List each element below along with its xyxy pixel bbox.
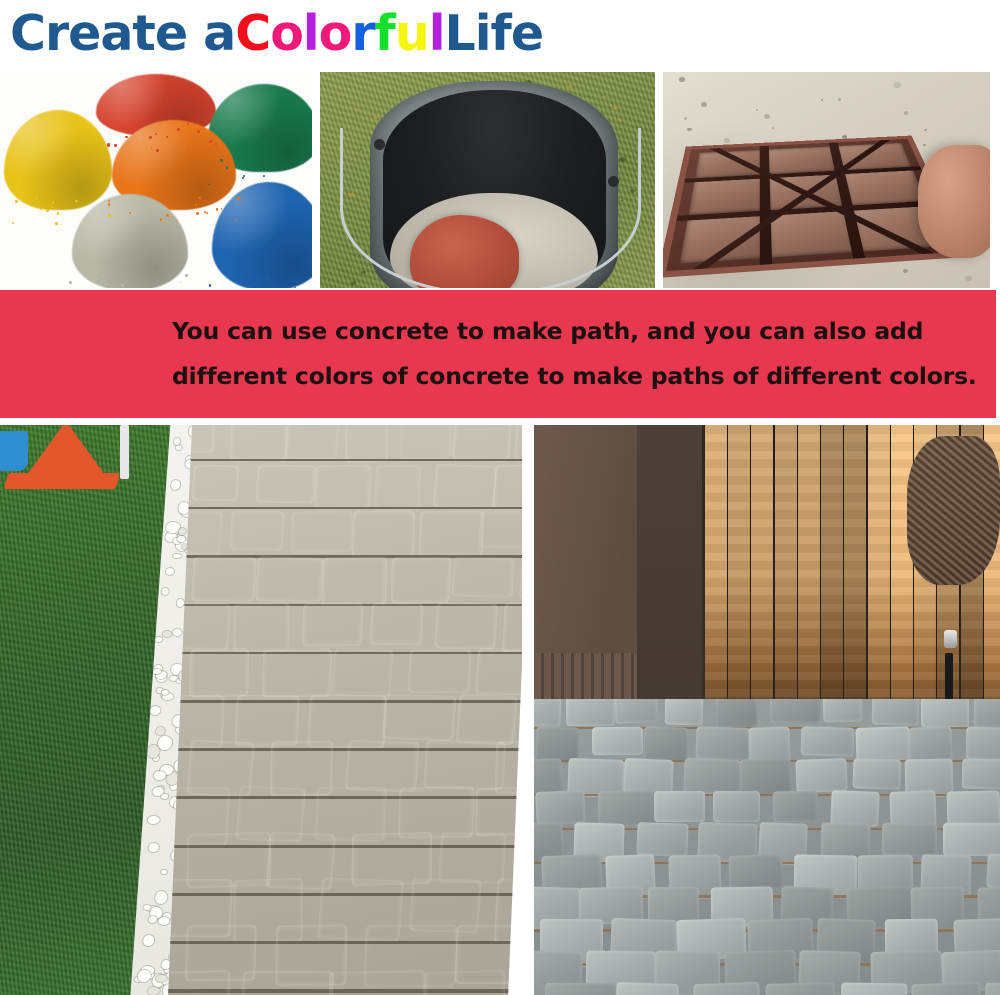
paver-stone	[375, 465, 422, 511]
paver-stone	[495, 741, 522, 794]
paver-stone	[345, 425, 389, 463]
headline-letter-r: r	[351, 9, 374, 58]
paver-stone	[795, 758, 847, 793]
headline-letter-f: f	[375, 9, 395, 58]
pigment-grain	[195, 204, 197, 206]
paver-stone	[451, 425, 511, 462]
paver-stone	[830, 790, 879, 827]
paver-stone	[749, 726, 791, 762]
paver-stone	[518, 832, 522, 894]
gravel-stone	[161, 870, 168, 875]
paver-stone	[623, 758, 673, 796]
paver-stone	[965, 726, 1000, 759]
paver-stone	[739, 758, 791, 796]
paver-stone	[715, 699, 758, 729]
pigment-grain	[209, 284, 211, 286]
paver-stone	[772, 790, 818, 822]
banner-line-2: different colors of concrete to make pat…	[172, 365, 996, 389]
paver-stone	[514, 970, 522, 995]
pigment-grain	[84, 221, 85, 222]
paver-stone	[230, 425, 288, 461]
shrub	[907, 436, 1000, 584]
paver-stone	[545, 983, 617, 995]
stamped-concrete-path	[168, 425, 522, 995]
paver-stone	[291, 510, 353, 554]
fence-plank	[751, 425, 773, 721]
paver-stone	[592, 726, 643, 754]
traffic-cone	[24, 425, 108, 479]
paver-stone	[434, 602, 498, 650]
headline-letter-o2: o	[319, 9, 352, 58]
headline-life: Life	[445, 9, 544, 58]
paver-stone	[419, 511, 485, 558]
paver-stone	[598, 790, 657, 826]
pebble	[724, 138, 730, 143]
paver-stone	[821, 822, 871, 859]
grass-fleck	[338, 94, 341, 96]
gravel-stone	[153, 669, 161, 674]
grass-fleck	[605, 95, 607, 97]
paver-stone	[615, 699, 660, 724]
pigment-grain	[46, 209, 49, 212]
pebble	[684, 117, 688, 120]
pigment-grain	[99, 282, 100, 283]
gravel-stone	[143, 905, 151, 909]
paver-joint	[170, 459, 522, 461]
gravel-stone	[179, 528, 186, 535]
paver-stone	[432, 464, 497, 511]
paver-stone	[514, 425, 522, 462]
paver-stone	[452, 556, 516, 598]
paver-stone	[502, 602, 522, 653]
pigment-grain	[12, 222, 14, 224]
grass-fleck	[618, 118, 621, 120]
paver-stone	[256, 465, 317, 504]
page-title: Create a Colorful Life	[10, 2, 543, 64]
top-photo-row	[0, 72, 1000, 288]
pebble	[764, 114, 770, 119]
bottom-photo-row	[0, 425, 1000, 995]
paver-stone	[398, 787, 475, 839]
paver-stone	[822, 699, 862, 723]
paver-stone	[255, 556, 324, 603]
fence-plank	[844, 425, 866, 721]
gravel-stone	[150, 706, 160, 715]
gravel-stone	[158, 917, 170, 925]
pigment-grain	[114, 144, 117, 147]
paver-stone	[912, 981, 982, 995]
grass-fleck	[361, 271, 366, 274]
paver-stone	[801, 726, 855, 756]
paver-stone	[382, 694, 456, 742]
pigment-grain	[69, 281, 72, 284]
traffic-cone-base	[4, 473, 121, 489]
mold-cell	[688, 177, 762, 216]
pigment-grain	[233, 220, 234, 221]
paver-stone	[654, 791, 705, 822]
garden-path-photo	[0, 425, 522, 995]
gravel-stone	[162, 588, 169, 595]
paver-stone	[728, 854, 783, 890]
paver-stone	[189, 648, 249, 698]
paver-stone	[315, 465, 371, 510]
product-infographic: Create a Colorful Life	[0, 0, 1000, 995]
stamped-concrete-patio	[534, 699, 1000, 995]
paver-stone	[456, 694, 518, 746]
fence-plank	[868, 425, 890, 721]
pebble	[679, 77, 684, 81]
paver-stone	[423, 740, 506, 790]
gravel-stone	[147, 987, 160, 995]
pigment-grain	[263, 175, 265, 177]
paver-stone	[493, 465, 522, 511]
pebble	[772, 127, 774, 129]
paver-stone	[643, 726, 688, 763]
fence-plank	[798, 425, 820, 721]
gravel-stone	[155, 637, 162, 642]
paver-stone	[302, 603, 363, 646]
garden-lamp-head	[944, 630, 957, 648]
paver-stone	[476, 786, 522, 837]
pigment-grain	[57, 212, 59, 214]
paver-stone	[321, 556, 386, 606]
paver-stone	[872, 699, 920, 725]
paver-stone	[168, 970, 230, 995]
paver-stone	[535, 790, 586, 825]
paver-stone	[962, 758, 1000, 789]
paver-stone	[984, 982, 1000, 995]
grass-fleck	[613, 106, 617, 109]
pigment-grain	[51, 206, 53, 208]
paver-stone	[943, 822, 1000, 855]
paver-stone	[637, 822, 689, 857]
paver-stone	[229, 510, 285, 551]
pigment-grain	[206, 212, 208, 214]
paver-stone	[424, 970, 506, 995]
paver-stone	[889, 790, 936, 828]
paver-stone	[400, 425, 453, 459]
gravel-stone	[173, 554, 181, 559]
paver-stone	[478, 510, 522, 549]
gravel-stone	[137, 970, 151, 982]
gravel-stone	[148, 916, 157, 923]
headline-letter-l1: l	[303, 9, 319, 58]
paver-stone	[665, 699, 703, 725]
fence-plank	[728, 425, 750, 721]
handle-nub-left	[374, 139, 385, 150]
paver-stone	[235, 695, 301, 746]
pigment-grain	[60, 224, 61, 225]
pigment-grain	[108, 200, 110, 202]
paver-stone	[345, 740, 420, 792]
grass-fleck	[351, 281, 356, 285]
gravel-stone	[177, 536, 185, 542]
gravel-stone	[153, 771, 166, 780]
pigment-grain	[216, 208, 219, 211]
hand	[918, 145, 990, 257]
paver-stone	[856, 726, 911, 762]
pigment-grain	[237, 197, 240, 200]
gravel-stone	[174, 438, 180, 444]
grass-fleck	[567, 85, 572, 89]
paver-stone	[475, 648, 522, 696]
gravel-stone	[170, 480, 180, 490]
grass-fleck	[355, 108, 359, 111]
gravel-stone	[149, 843, 159, 852]
bucket-handle	[340, 128, 641, 288]
paver-stone	[882, 822, 937, 856]
paver-stone	[352, 511, 416, 559]
paver-stone	[262, 649, 332, 698]
grass-fleck	[587, 96, 589, 97]
paver-stone	[987, 853, 1000, 889]
pigment-grain	[257, 277, 259, 279]
paver-stone	[369, 603, 423, 646]
gravel-stone	[147, 816, 160, 824]
promo-banner: You can use concrete to make path, and y…	[0, 290, 996, 418]
paver-stone	[191, 557, 256, 603]
pigment-grain	[155, 133, 157, 135]
paver-stone	[438, 832, 506, 883]
gravel-stone	[155, 891, 168, 904]
gravel-stone	[156, 727, 166, 735]
paver-stone	[694, 981, 762, 995]
paver-stone	[331, 648, 393, 697]
paver-stone	[191, 465, 239, 502]
gravel-stone	[172, 629, 182, 636]
pigment-grain	[125, 136, 127, 138]
paver-stone	[390, 557, 450, 604]
paver-stone	[534, 699, 562, 727]
paver-joint	[168, 507, 522, 509]
gravel-stone	[176, 599, 184, 606]
fence-plank	[775, 425, 797, 721]
pigment-grain	[249, 167, 251, 169]
paver-stone	[566, 699, 615, 727]
paver-stone	[909, 726, 953, 763]
pigment-grain	[52, 201, 54, 203]
paver-stone	[683, 758, 741, 795]
headline-letter-u: u	[395, 9, 429, 58]
headline-letter-l2: l	[429, 9, 445, 58]
white-pole	[120, 425, 129, 479]
headline-letter-c: C	[235, 9, 270, 58]
paver-stone	[695, 726, 750, 760]
pigment-grain	[130, 124, 131, 125]
paver-stone	[241, 971, 334, 995]
paver-stone	[285, 425, 340, 460]
paver-stone	[328, 970, 425, 995]
pigment-grain	[156, 149, 159, 152]
paver-stone	[852, 758, 901, 789]
pigment-grain	[107, 143, 110, 146]
pigment-grain	[166, 214, 169, 217]
pigment-grain	[197, 130, 200, 133]
pigment-powders-photo	[0, 72, 312, 288]
paver-stone	[713, 791, 760, 822]
paver-stone	[408, 649, 472, 693]
gravel-stone	[165, 568, 174, 575]
headline-letter-o1: o	[270, 9, 303, 58]
paver-stone	[519, 556, 522, 601]
headline-create-a: Create a	[10, 9, 235, 58]
gravel-stone	[143, 935, 155, 946]
paver-stone	[921, 699, 969, 729]
pigment-grain	[166, 136, 168, 138]
pigment-grain	[235, 219, 236, 220]
paving-mold-photo	[663, 72, 990, 288]
gravel-stone	[162, 631, 172, 637]
pigment-grain	[248, 160, 249, 161]
gravel-stone	[161, 794, 168, 799]
pigment-grain	[177, 128, 180, 131]
pebble	[756, 109, 759, 111]
fence-plank	[821, 425, 843, 721]
banner-line-1: You can use concrete to make path, and y…	[172, 320, 996, 344]
paver-stone	[841, 982, 908, 995]
fence-plank	[705, 425, 727, 721]
pigment-grain	[151, 148, 153, 150]
gravel-stone	[158, 736, 173, 750]
paver-stone	[616, 982, 679, 995]
mold-cell	[842, 169, 925, 206]
pigment-grain	[226, 166, 228, 168]
patio-photo	[534, 425, 1000, 995]
pigment-grain	[108, 203, 111, 206]
paver-stone	[974, 699, 1000, 729]
paver-stone	[766, 982, 836, 995]
pigment-grain	[221, 208, 223, 210]
paver-stone	[234, 602, 290, 653]
handle-nub-right	[608, 176, 619, 187]
bucket-mixing-photo	[320, 72, 655, 288]
gravel-stone	[176, 445, 182, 450]
pigment-grain	[15, 200, 18, 203]
pigment-grain	[198, 197, 200, 199]
blue-toy	[0, 431, 28, 471]
pebble	[893, 82, 901, 88]
paver-stone	[770, 699, 822, 723]
